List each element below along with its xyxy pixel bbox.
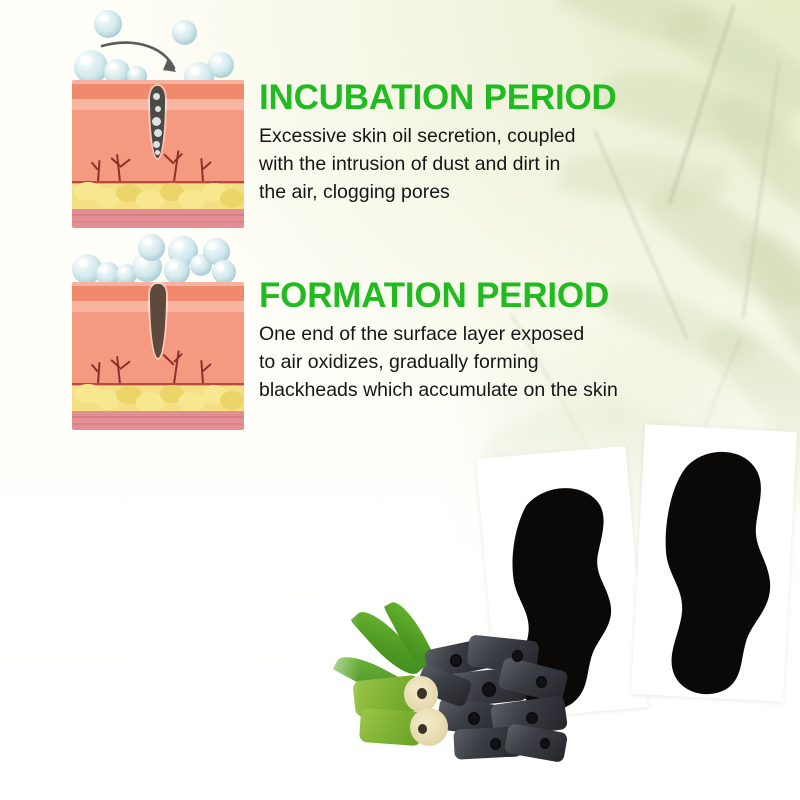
body-incubation: Excessive skin oil secretion, coupled wi…	[259, 122, 576, 206]
skin-cross-section	[72, 80, 244, 228]
charcoal-hollow	[468, 712, 480, 725]
nose-strip-right	[640, 440, 792, 702]
charcoal-hollow	[490, 738, 501, 750]
body-formation: One end of the surface layer exposed to …	[259, 320, 618, 404]
body-line: One end of the surface layer exposed	[259, 320, 618, 348]
heading-formation: FORMATION PERIOD	[259, 276, 609, 316]
charcoal-hollow	[536, 676, 547, 688]
bubble-icon	[212, 260, 236, 284]
bubble-icon	[164, 258, 190, 284]
charcoal-hollow	[482, 682, 496, 697]
bamboo-charcoal-photo	[330, 620, 570, 790]
bamboo-cut-hole	[417, 688, 427, 699]
heading-incubation: INCUBATION PERIOD	[259, 78, 617, 118]
body-line: to air oxidizes, gradually forming	[259, 348, 618, 376]
blackhead-strip-infographic: INCUBATION PERIOD Excessive skin oil sec…	[0, 0, 800, 800]
charcoal-hollow	[526, 712, 538, 724]
charcoal-hollow	[450, 654, 462, 667]
body-line: Excessive skin oil secretion, coupled	[259, 122, 576, 150]
body-line: with the intrusion of dust and dirt in	[259, 150, 576, 178]
diagram-incubation	[72, 6, 244, 228]
bamboo-cut-hole	[418, 724, 427, 734]
body-line: the air, clogging pores	[259, 178, 576, 206]
bubble-icon	[208, 52, 234, 78]
bamboo-cut-face	[410, 708, 448, 746]
diagram-formation	[72, 232, 244, 430]
skin-cross-section	[72, 282, 244, 430]
charcoal-hollow	[540, 738, 550, 749]
charcoal-hollow	[512, 650, 523, 662]
arrow-into-pore-icon	[100, 34, 190, 84]
body-line: blackheads which accumulate on the skin	[259, 376, 618, 404]
bubble-icon	[138, 234, 165, 261]
